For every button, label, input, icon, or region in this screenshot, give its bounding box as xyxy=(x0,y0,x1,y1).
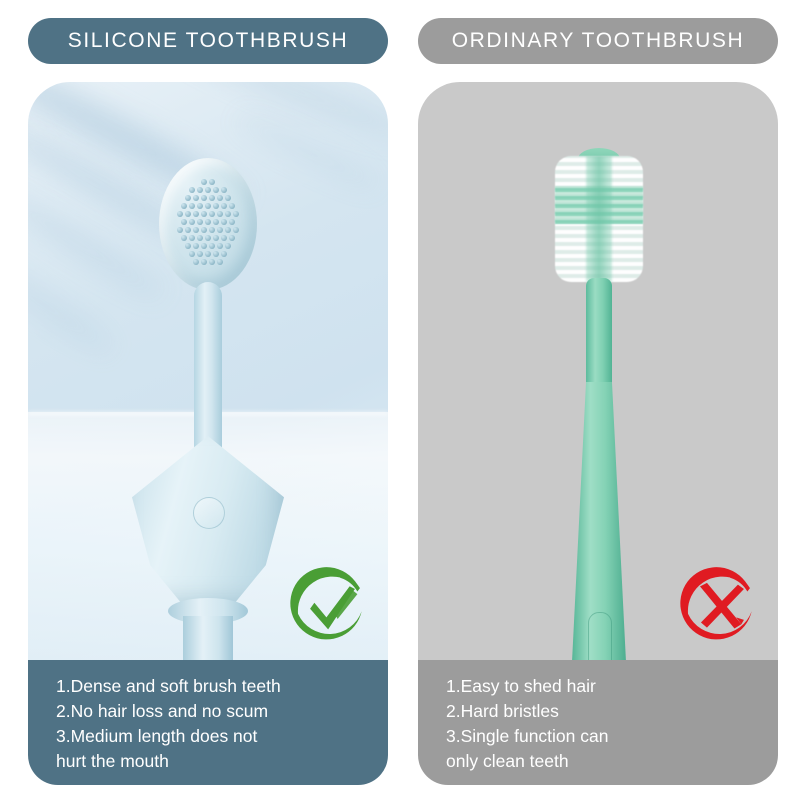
header-pill-ordinary: ORDINARY TOOTHBRUSH xyxy=(418,18,778,64)
bristle-dot xyxy=(189,187,195,193)
bristle-dot xyxy=(213,219,219,225)
bristle-dot xyxy=(233,211,239,217)
bristle-dot xyxy=(193,211,199,217)
bristle-dot xyxy=(181,203,187,209)
feature-list-ordinary: 1.Easy to shed hair 2.Hard bristles 3.Si… xyxy=(418,660,778,785)
ordinary-brush-neck xyxy=(586,278,612,398)
bristle-dot xyxy=(185,195,191,201)
product-photo-ordinary xyxy=(418,82,778,662)
bristle-dot xyxy=(209,243,215,249)
bristle-dot xyxy=(209,195,215,201)
panel-ordinary: 1.Easy to shed hair 2.Hard bristles 3.Si… xyxy=(418,82,778,785)
product-photo-silicone xyxy=(28,82,388,662)
bristle-dot xyxy=(221,251,227,257)
list-item: 2.Hard bristles xyxy=(446,699,764,724)
bristle-dot xyxy=(213,187,219,193)
bristle-dot xyxy=(221,235,227,241)
bristle-dot xyxy=(205,251,211,257)
bristle-dot xyxy=(181,219,187,225)
bristle-dot xyxy=(193,195,199,201)
header-pill-silicone: SILICONE TOOTHBRUSH xyxy=(28,18,388,64)
bristle-dot xyxy=(225,195,231,201)
bristle-dot xyxy=(217,227,223,233)
bristle-dot xyxy=(201,211,207,217)
bristle-dot xyxy=(229,203,235,209)
header-label-ordinary: ORDINARY TOOTHBRUSH xyxy=(452,29,745,53)
bristle-dot xyxy=(225,227,231,233)
bristle-dot xyxy=(189,219,195,225)
header-row: SILICONE TOOTHBRUSH ORDINARY TOOTHBRUSH xyxy=(0,18,800,64)
bristle-dot xyxy=(209,227,215,233)
bristle-dot xyxy=(193,227,199,233)
header-label-silicone: SILICONE TOOTHBRUSH xyxy=(68,29,349,53)
bristle-dot xyxy=(185,227,191,233)
ordinary-handle-slot xyxy=(588,612,612,662)
bristle-dot xyxy=(185,243,191,249)
check-icon xyxy=(286,564,372,650)
bristle-dot xyxy=(221,203,227,209)
bristle-dot xyxy=(217,259,223,265)
ordinary-brush-head-core xyxy=(586,156,612,282)
bristle-dot xyxy=(189,203,195,209)
list-item: 1.Dense and soft brush teeth xyxy=(56,674,374,699)
bristle-dot xyxy=(233,227,239,233)
bristle-dot xyxy=(209,259,215,265)
bristle-dot xyxy=(205,203,211,209)
silicone-grip-button xyxy=(193,497,225,529)
bristle-dot xyxy=(205,187,211,193)
green-check-badge xyxy=(286,564,372,650)
bristle-dot xyxy=(213,251,219,257)
feature-items-silicone: 1.Dense and soft brush teeth 2.No hair l… xyxy=(28,674,388,774)
bristle-dot xyxy=(201,195,207,201)
bristle-dot xyxy=(221,187,227,193)
bristle-dot xyxy=(193,243,199,249)
bristle-dot xyxy=(197,235,203,241)
list-item: 1.Easy to shed hair xyxy=(446,674,764,699)
bristle-dot xyxy=(205,219,211,225)
bristle-dot xyxy=(177,227,183,233)
bristle-dot xyxy=(197,251,203,257)
bristle-dot xyxy=(225,243,231,249)
cross-icon xyxy=(676,564,762,650)
bristle-dot xyxy=(177,211,183,217)
bristle-dot xyxy=(201,227,207,233)
red-cross-badge xyxy=(676,564,762,650)
bristle-dot xyxy=(201,259,207,265)
bristle-dot xyxy=(217,211,223,217)
bristle-dot xyxy=(229,235,235,241)
silicone-brush-handle xyxy=(183,616,233,662)
list-item: 2.No hair loss and no scum xyxy=(56,699,374,724)
bristle-dot xyxy=(197,187,203,193)
bristle-dot xyxy=(193,259,199,265)
feature-items-ordinary: 1.Easy to shed hair 2.Hard bristles 3.Si… xyxy=(418,674,778,774)
bristle-dot xyxy=(225,211,231,217)
bristle-dot xyxy=(181,235,187,241)
bristle-dot xyxy=(229,219,235,225)
bristle-dot xyxy=(205,235,211,241)
bristle-dot xyxy=(213,235,219,241)
panel-silicone: 1.Dense and soft brush teeth 2.No hair l… xyxy=(28,82,388,785)
bristle-dot xyxy=(221,219,227,225)
bristle-dot xyxy=(185,211,191,217)
list-item: 3.Medium length does not hurt the mouth xyxy=(56,724,374,774)
bristle-dot xyxy=(209,211,215,217)
bristle-dot xyxy=(213,203,219,209)
bristle-dot xyxy=(189,251,195,257)
feature-list-silicone: 1.Dense and soft brush teeth 2.No hair l… xyxy=(28,660,388,785)
bristle-dot xyxy=(197,203,203,209)
bristle-dot xyxy=(201,243,207,249)
bristle-dot xyxy=(209,179,215,185)
list-item: 3.Single function can only clean teeth xyxy=(446,724,764,774)
bristle-dot xyxy=(217,243,223,249)
bristle-dot xyxy=(197,219,203,225)
bristle-dot xyxy=(217,195,223,201)
bristle-dot xyxy=(201,179,207,185)
bristle-dot xyxy=(189,235,195,241)
silicone-brush-head xyxy=(159,158,257,290)
silicone-bristle-dots xyxy=(176,178,240,270)
